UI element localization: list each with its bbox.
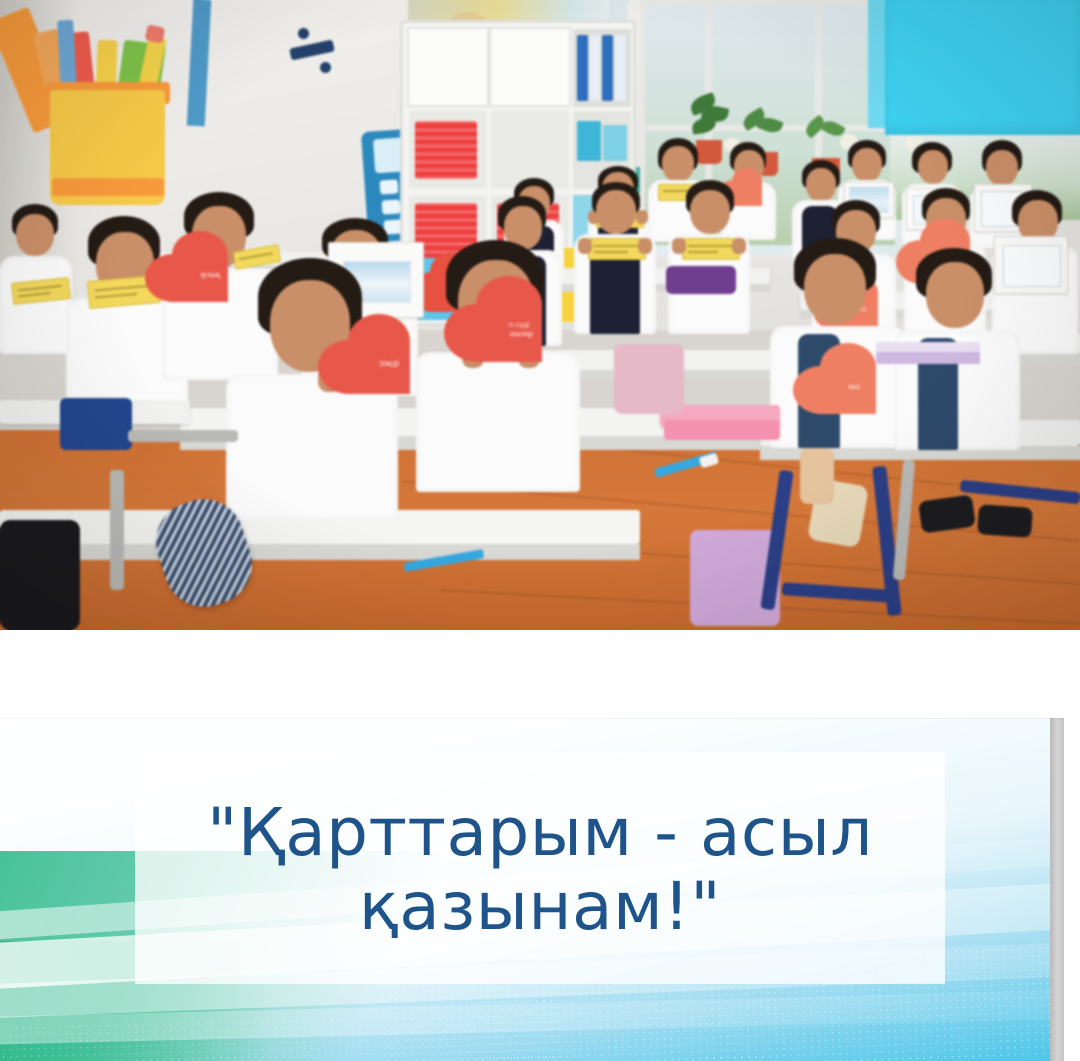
- calculator-key: [382, 199, 401, 214]
- blue-bag: [60, 398, 132, 450]
- student-front-right: Бәйбөз сәді қолдаушылар: [414, 240, 584, 490]
- heart-card-label: Ақжол: [820, 382, 876, 391]
- division-dot-top-icon: [298, 28, 309, 39]
- white-binder: [615, 35, 626, 101]
- eraser-doodle: [145, 24, 166, 43]
- cabinet-shelf-binders: [571, 27, 633, 109]
- notebooks-stack-2: [876, 352, 980, 364]
- pink-pencil-case-2: [664, 420, 780, 440]
- teal-box-2: [603, 125, 627, 161]
- shoe-dark-2: [977, 504, 1033, 538]
- student-mid-3: [666, 180, 752, 350]
- heart-card-label: Мейірімді: [348, 358, 410, 368]
- pink-backpack: [614, 344, 684, 414]
- blue-binder: [577, 35, 588, 101]
- calculator-key: [380, 179, 399, 194]
- cabinet-door-right[interactable]: [489, 27, 571, 107]
- chair-leg-left: [110, 470, 124, 590]
- slide-title-line-2: қазынам!": [359, 868, 721, 945]
- division-dot-bottom-icon: [320, 62, 331, 73]
- teal-box: [577, 121, 601, 161]
- red-storage-bin: [415, 121, 477, 179]
- slide-title: "Қарттарым - асыл қазынам!": [135, 762, 945, 977]
- cabinet-door-left[interactable]: [407, 27, 489, 107]
- slide-right-border: [1050, 718, 1064, 1061]
- heart-card: Ақжол: [820, 366, 876, 414]
- heart-card-label: Бәйбөз сәді қолдаушылар: [476, 320, 542, 338]
- blue-binder: [602, 35, 613, 101]
- slide-top-edge: [0, 718, 1064, 719]
- heart-card-meyirimdi: Мейірімді: [348, 340, 410, 394]
- chair-rail-left: [128, 430, 238, 442]
- leg: [800, 448, 834, 504]
- desk-front-lowest-edge: [0, 544, 640, 560]
- black-backpack: [0, 520, 80, 630]
- cyan-roller-blind: [885, 0, 1080, 135]
- pencil-cup-base: [52, 178, 164, 196]
- student-mid-2: [572, 182, 658, 352]
- student-front-left: Мейірімді: [222, 258, 402, 518]
- page-root: Ақжол Қамқорлық: [0, 0, 1080, 1061]
- slide-title-line-1: "Қарттарым - асыл: [207, 794, 873, 871]
- white-binder: [590, 35, 600, 101]
- heart-card-baibolsyn: Бәйбөз сәді қолдаушылар: [476, 304, 542, 362]
- heart-card-label: Қамқорлық: [172, 270, 228, 279]
- classroom-photo: Ақжол Қамқорлық: [0, 0, 1080, 630]
- cabinet-cell: [407, 109, 489, 191]
- purple-case: [666, 266, 736, 294]
- heart-card: Қамқорлық: [172, 254, 228, 302]
- presentation-slide: "Қарттарым - асыл қазынам!": [0, 718, 1064, 1061]
